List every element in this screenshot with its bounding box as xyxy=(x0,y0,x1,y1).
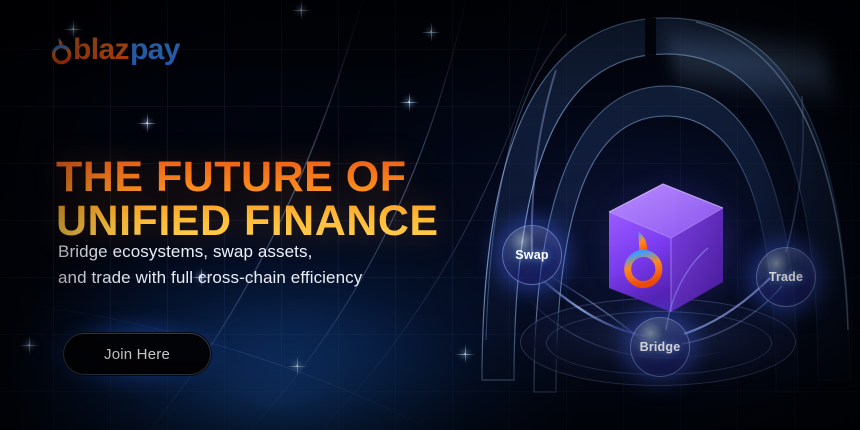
sparkle-icon xyxy=(146,122,148,124)
hero-headline: THE FUTURE OF UNIFIED FINANCE xyxy=(56,155,439,243)
logo-text-pay: pay xyxy=(130,35,180,65)
subtitle-line-2: and trade with full cross-chain efficien… xyxy=(58,265,362,291)
sparkle-icon xyxy=(72,28,74,30)
sparkle-icon xyxy=(300,9,302,11)
cta-container: Join Here xyxy=(63,333,211,375)
flame-b-icon xyxy=(52,35,72,65)
hero-banner: blaz pay THE FUTURE OF UNIFIED FINANCE B… xyxy=(0,0,860,430)
node-swap[interactable]: Swap xyxy=(502,225,562,285)
hero-subtitle: Bridge ecosystems, swap assets, and trad… xyxy=(58,239,362,291)
node-swap-label: Swap xyxy=(515,248,548,262)
sparkle-icon xyxy=(464,353,466,355)
hero-illustration: Swap Trade Bridge xyxy=(470,0,860,430)
sparkle-icon xyxy=(296,365,298,367)
headline-line-1: THE FUTURE OF xyxy=(56,155,439,199)
sparkle-icon xyxy=(408,101,410,103)
brand-logo[interactable]: blaz pay xyxy=(52,32,180,68)
headline-line-2: UNIFIED FINANCE xyxy=(56,199,439,243)
join-here-button[interactable]: Join Here xyxy=(63,333,211,375)
node-trade[interactable]: Trade xyxy=(756,247,816,307)
subtitle-line-1: Bridge ecosystems, swap assets, xyxy=(58,239,362,265)
node-bridge[interactable]: Bridge xyxy=(630,317,690,377)
sparkle-icon xyxy=(430,31,432,33)
node-trade-label: Trade xyxy=(769,270,803,284)
logo-text-blaz: blaz xyxy=(73,35,129,65)
node-bridge-label: Bridge xyxy=(640,340,681,354)
